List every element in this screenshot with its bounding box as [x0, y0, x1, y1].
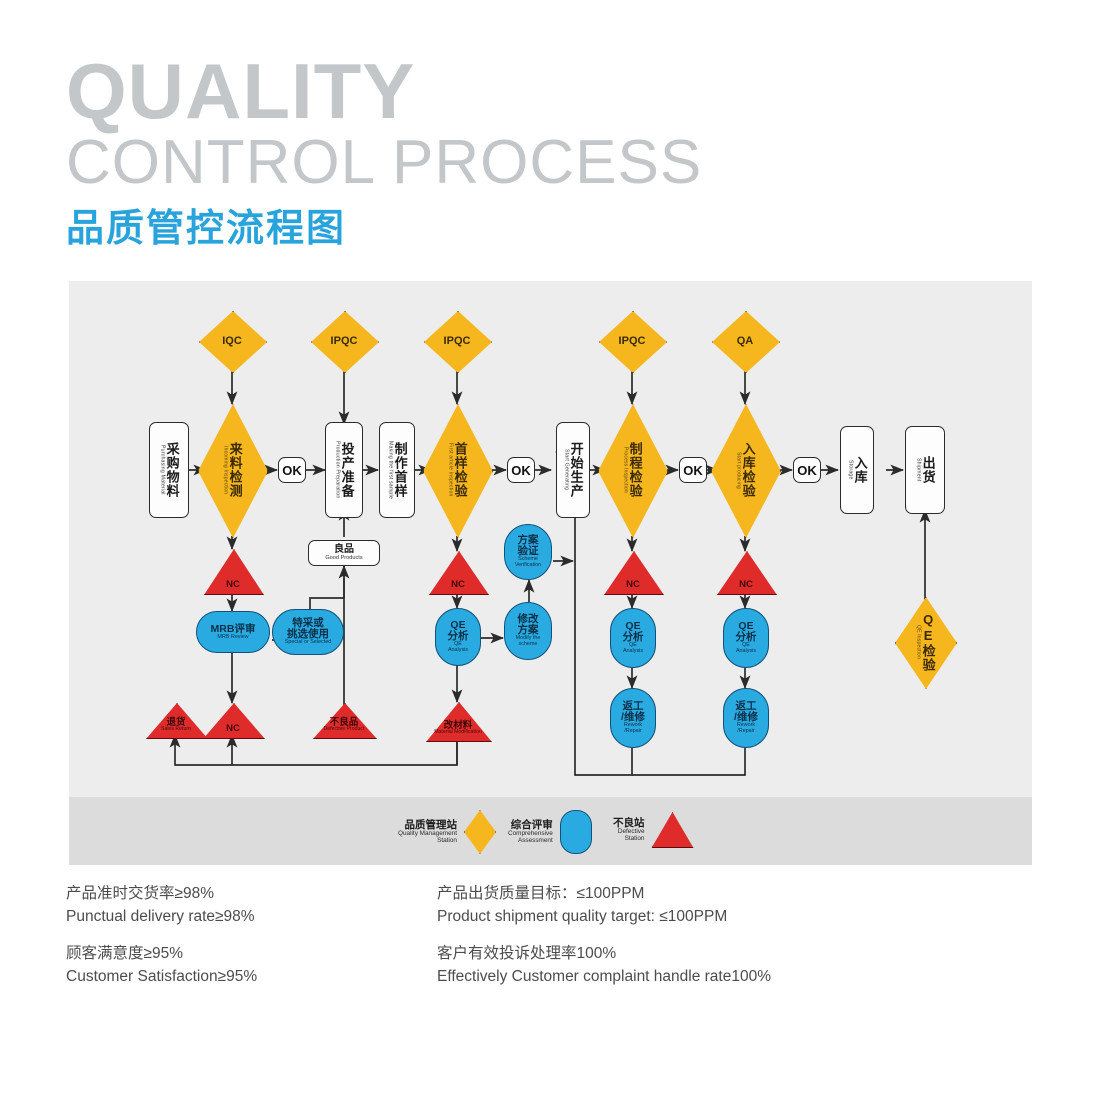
node-process-inspection[interactable]: 制程检验 Process Inspection: [598, 404, 666, 536]
legend-text: 综合评审 Comprehensive Assessment: [508, 820, 553, 845]
node-label-cn: 采购物料: [165, 442, 178, 498]
node-sales-return[interactable]: 退货 Sales Return: [146, 703, 206, 737]
kpi-label-en: Punctual delivery rate≥98%: [66, 905, 426, 929]
label-wrap: 制程检验 Process Inspection: [598, 404, 666, 536]
title-line-3-chinese: 品质管控流程图: [66, 206, 966, 252]
node-label: 退货 Sales Return: [146, 718, 206, 733]
legend-item-defective-station: 不良站 Defective Station: [613, 812, 694, 848]
triangle-shape: [203, 703, 265, 739]
label-wrap: QE检验 QE Inspection: [895, 597, 955, 687]
ok-gate-1[interactable]: OK: [278, 457, 306, 483]
kpi-shipment-quality: 产品出货质量目标：≤100PPM Product shipment qualit…: [437, 883, 897, 929]
node-qe-analysis-3[interactable]: QE 分析 QE Analysis: [723, 608, 769, 668]
kpi-label-en: Product shipment quality target: ≤100PPM: [437, 905, 897, 929]
legend-label-en-2: Assessment: [508, 838, 553, 845]
node-label-cn: 开始生产: [569, 442, 582, 498]
diamond-icon: [464, 810, 496, 854]
ok-label: OK: [683, 463, 703, 478]
legend-item-comprehensive-assessment: 综合评审 Comprehensive Assessment: [508, 810, 592, 854]
node-special-or-selected[interactable]: 特采或 挑选使用 Special or Selected: [272, 609, 344, 655]
node-label: 改材料 Material Modification: [426, 721, 490, 736]
node-label-en-2: Verification: [515, 563, 541, 569]
kpi-label-cn: 产品出货质量目标：≤100PPM: [437, 883, 897, 905]
inspector-iqc[interactable]: IQC: [199, 311, 265, 371]
node-label-cn: MRB评审: [211, 624, 256, 635]
label-wrap: 开始生产 Start Generating: [563, 423, 582, 517]
node-label: NC: [203, 724, 263, 734]
ok-label: OK: [282, 463, 302, 478]
node-label-cn: 入库检验: [741, 442, 754, 498]
stadium-icon: [560, 810, 592, 854]
node-mrb-review[interactable]: MRB评审 MRB Review: [196, 611, 270, 653]
node-storage[interactable]: 入库 Storage: [840, 426, 874, 514]
node-label-en: Good Products: [325, 555, 362, 561]
ok-label: OK: [511, 463, 531, 478]
node-label: NC: [204, 580, 262, 590]
inspector-label: IQC: [199, 311, 265, 371]
node-start-generating[interactable]: 开始生产 Start Generating: [556, 422, 590, 518]
kpi-delivery-rate: 产品准时交货率≥98% Punctual delivery rate≥98%: [66, 883, 426, 929]
node-modify-scheme[interactable]: 修改 方案 Modify the scheme: [504, 602, 552, 660]
node-nc-mrb[interactable]: NC: [203, 703, 263, 737]
node-storage-inspection[interactable]: 入库检验 Start producing: [711, 404, 779, 536]
node-label-en-2: Analysis: [736, 649, 756, 655]
legend-label-en-2: Station: [613, 836, 645, 843]
node-label-en-2: scheme: [519, 642, 538, 648]
node-label-en-2: Analysis: [623, 649, 643, 655]
legend-label-cn: 综合评审: [508, 820, 553, 831]
label-wrap: 良品 Good Products: [325, 544, 362, 561]
node-good-products[interactable]: 良品 Good Products: [308, 540, 380, 566]
inspector-label: IPQC: [599, 311, 665, 371]
label-wrap: 出货 Shipment: [915, 427, 934, 513]
node-label: NC: [717, 580, 775, 590]
node-nc-process[interactable]: NC: [604, 551, 662, 593]
node-label-en-2: Analysis: [448, 648, 468, 654]
label-wrap: 制作首样 Making the first sample: [387, 423, 406, 517]
node-purchasing-material[interactable]: 采购物料 Purchasing Material: [149, 422, 189, 518]
title-line-1: QUALITY: [66, 54, 966, 128]
node-production-preparation[interactable]: 投产准备 Production Preparation: [325, 422, 363, 518]
kpi-label-en: Effectively Customer complaint handle ra…: [437, 965, 907, 989]
node-label-en: Special or Selected: [285, 640, 331, 646]
title-line-2: CONTROL PROCESS: [66, 130, 966, 196]
node-defective-product[interactable]: 不良品 Defective Product: [313, 703, 375, 737]
label-wrap: 入库检验 Start producing: [711, 404, 779, 536]
node-nc-first-article[interactable]: NC: [429, 551, 487, 593]
node-shipment[interactable]: 出货 Shipment: [905, 426, 945, 514]
node-label-cn: 首样检验: [453, 442, 466, 498]
legend-item-quality-station: 品质管理站 Quality Management Station: [398, 810, 496, 854]
kpi-label-cn: 客户有效投诉处理率100%: [437, 943, 907, 965]
node-label-cn: 制程检验: [628, 442, 641, 498]
node-rework-repair-1[interactable]: 返工 /维修 Rework /Repair: [610, 688, 656, 748]
triangle-icon: [652, 812, 694, 848]
kpi-label-cn: 产品准时交货率≥98%: [66, 883, 426, 905]
legend-label-cn: 不良站: [613, 818, 645, 829]
node-material-modification[interactable]: 改材料 Material Modification: [426, 702, 490, 740]
node-label-cn: 良品: [334, 544, 354, 555]
node-label-cn: 制作首样: [393, 442, 406, 498]
node-label: 不良品 Defective Product: [313, 718, 375, 733]
page-header: QUALITY CONTROL PROCESS 品质管控流程图: [66, 54, 966, 252]
node-making-first-sample[interactable]: 制作首样 Making the first sample: [379, 422, 415, 518]
kpi-label-en: Customer Satisfaction≥95%: [66, 965, 426, 989]
node-label-en-2: /Repair: [737, 729, 754, 735]
label-wrap: 投产准备 Production Preparation: [334, 423, 353, 517]
ok-gate-4[interactable]: OK: [793, 457, 821, 483]
inspector-label: IPQC: [311, 311, 377, 371]
node-qe-analysis-1[interactable]: QE 分析 QE Analysis: [435, 608, 481, 666]
kpi-customer-satisfaction: 顾客满意度≥95% Customer Satisfaction≥95%: [66, 943, 426, 989]
legend-text: 不良站 Defective Station: [613, 818, 645, 843]
kpi-complaint-handling: 客户有效投诉处理率100% Effectively Customer compl…: [437, 943, 907, 989]
node-label: NC: [429, 580, 487, 590]
node-nc-storage[interactable]: NC: [717, 551, 775, 593]
legend-label-cn: 品质管理站: [398, 820, 457, 831]
inspector-qa[interactable]: QA: [712, 311, 778, 371]
label-wrap: 首样检验 First article Inspection: [423, 404, 491, 536]
node-label-cn: 入库: [853, 456, 866, 484]
inspector-label: QA: [712, 311, 778, 371]
label-wrap: 来料检测 Incoming Inspection: [198, 404, 266, 536]
ok-gate-2[interactable]: OK: [507, 457, 535, 483]
node-qe-inspection[interactable]: QE检验 QE Inspection: [895, 597, 955, 687]
node-label-cn: 投产准备: [340, 442, 353, 498]
legend-text: 品质管理站 Quality Management Station: [398, 820, 457, 845]
legend-label-en-2: Station: [398, 838, 457, 845]
node-first-article-inspection[interactable]: 首样检验 First article Inspection: [423, 404, 491, 536]
node-qe-analysis-2[interactable]: QE 分析 QE Analysis: [610, 608, 656, 668]
node-rework-repair-2[interactable]: 返工 /维修 Rework /Repair: [723, 688, 769, 748]
ok-gate-3[interactable]: OK: [679, 457, 707, 483]
label-wrap: 采购物料 Purchasing Material: [159, 423, 178, 517]
inspector-ipqc-3[interactable]: IPQC: [599, 311, 665, 371]
inspector-ipqc-1[interactable]: IPQC: [311, 311, 377, 371]
node-scheme-verification[interactable]: 方案 验证 Scheme Verification: [504, 524, 552, 580]
node-label-cn: 来料检测: [228, 442, 241, 498]
node-label-cn: QE检验: [921, 612, 934, 672]
node-label-en-2: /Repair: [624, 729, 641, 735]
node-label-cn: 出货: [921, 456, 934, 484]
inspector-ipqc-2[interactable]: IPQC: [424, 311, 490, 371]
ok-label: OK: [797, 463, 817, 478]
inspector-label: IPQC: [424, 311, 490, 371]
kpi-label-cn: 顾客满意度≥95%: [66, 943, 426, 965]
node-incoming-inspection[interactable]: 来料检测 Incoming Inspection: [198, 404, 266, 536]
node-label: NC: [604, 580, 662, 590]
node-nc-incoming[interactable]: NC: [204, 549, 262, 593]
label-wrap: 入库 Storage: [847, 427, 866, 513]
node-label-en: MRB Review: [217, 635, 248, 641]
